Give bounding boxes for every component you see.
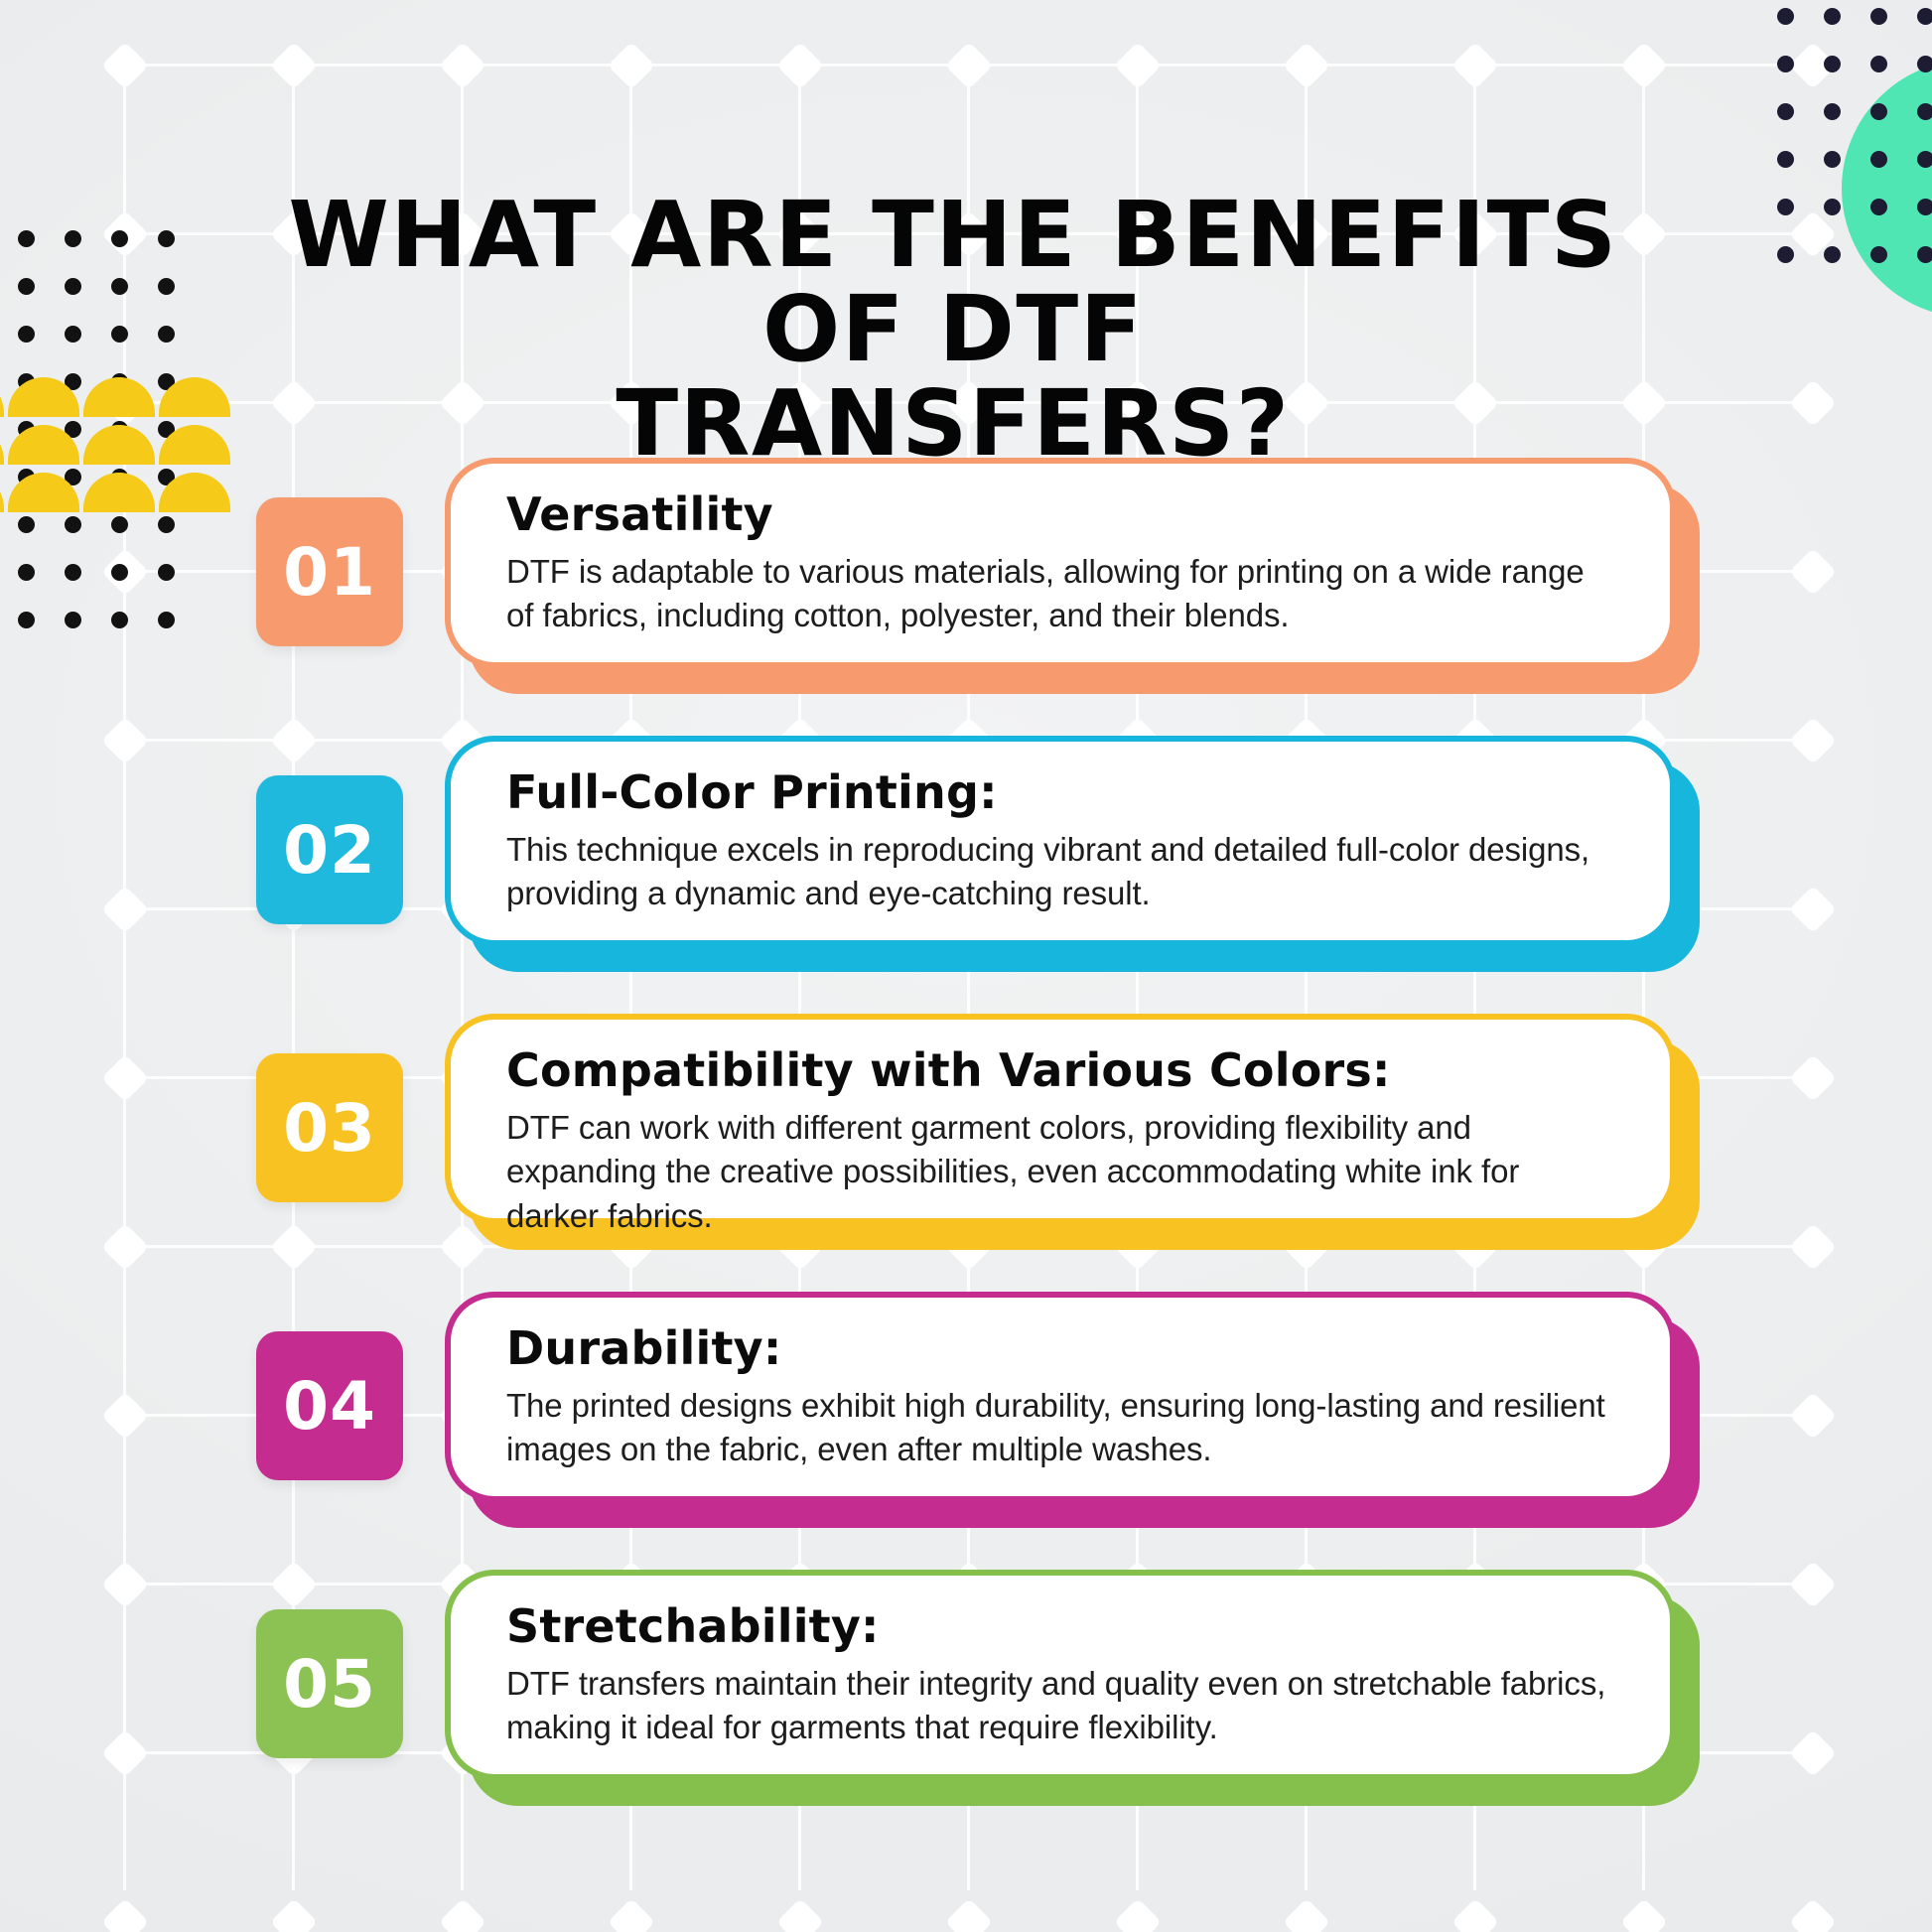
benefit-card[interactable]: VersatilityDTF is adaptable to various m… xyxy=(445,458,1676,668)
grid-joint-diamond xyxy=(944,41,992,88)
grid-joint-diamond xyxy=(1282,1897,1329,1932)
benefit-card[interactable]: Full-Color Printing:This technique excel… xyxy=(445,736,1676,946)
benefit-body: The printed designs exhibit high durabil… xyxy=(506,1384,1616,1473)
decorative-dot xyxy=(65,230,81,247)
benefit-number: 01 xyxy=(283,534,376,611)
benefit-row: 03Compatibility with Various Colors:DTF … xyxy=(0,1008,1932,1252)
decorative-dot xyxy=(1824,151,1841,168)
decorative-dot xyxy=(111,230,128,247)
grid-joint-diamond xyxy=(269,41,317,88)
benefit-number: 03 xyxy=(283,1090,376,1167)
grid-joint-diamond xyxy=(100,378,148,426)
grid-joint-diamond xyxy=(607,41,654,88)
decorative-dot xyxy=(1824,103,1841,120)
benefit-body: DTF is adaptable to various materials, a… xyxy=(506,550,1616,639)
benefit-number-badge: 02 xyxy=(256,775,403,924)
decorative-dot xyxy=(18,326,35,343)
decorative-dot xyxy=(158,421,175,438)
benefit-row: 05Stretchability:DTF transfers maintain … xyxy=(0,1564,1932,1808)
grid-joint-diamond xyxy=(944,1897,992,1932)
decorative-dot xyxy=(1870,56,1887,72)
benefit-row: 01VersatilityDTF is adaptable to various… xyxy=(0,452,1932,696)
infographic-canvas: WHAT ARE THE BENEFITS OF DTF TRANSFERS? … xyxy=(0,0,1932,1932)
grid-joint-diamond xyxy=(269,1897,317,1932)
grid-joint-diamond xyxy=(775,1897,823,1932)
grid-joint-diamond xyxy=(1788,41,1836,88)
grid-joint-diamond xyxy=(1788,378,1836,426)
decorative-dot xyxy=(65,421,81,438)
half-circle-shape xyxy=(83,377,155,417)
benefit-card-wrapper: Durability:The printed designs exhibit h… xyxy=(445,1292,1676,1502)
grid-joint-diamond xyxy=(1450,41,1498,88)
benefit-card[interactable]: Durability:The printed designs exhibit h… xyxy=(445,1292,1676,1502)
decorative-dot xyxy=(18,230,35,247)
benefit-heading: Compatibility with Various Colors: xyxy=(506,1045,1616,1096)
grid-joint-diamond xyxy=(438,41,485,88)
grid-joint-diamond xyxy=(1788,1897,1836,1932)
decorative-dot xyxy=(158,278,175,295)
decorative-dot xyxy=(158,326,175,343)
benefit-body: This technique excels in reproducing vib… xyxy=(506,828,1616,917)
decorative-dot xyxy=(1824,8,1841,25)
benefit-heading: Full-Color Printing: xyxy=(506,767,1616,818)
decorative-dot xyxy=(111,421,128,438)
benefit-number-badge: 01 xyxy=(256,497,403,646)
grid-joint-diamond xyxy=(100,209,148,257)
decorative-dot xyxy=(1777,151,1794,168)
decorative-dot xyxy=(65,373,81,390)
benefit-card[interactable]: Stretchability:DTF transfers maintain th… xyxy=(445,1570,1676,1780)
benefit-heading: Stretchability: xyxy=(506,1601,1616,1652)
benefit-row: 04Durability:The printed designs exhibit… xyxy=(0,1286,1932,1530)
decorative-dot xyxy=(1777,8,1794,25)
grid-joint-diamond xyxy=(1282,41,1329,88)
decorative-dot xyxy=(111,278,128,295)
decorative-dot xyxy=(18,278,35,295)
decorative-dot xyxy=(65,278,81,295)
decorative-dot xyxy=(1777,199,1794,215)
benefit-body: DTF transfers maintain their integrity a… xyxy=(506,1662,1616,1751)
benefit-number: 04 xyxy=(283,1368,376,1445)
decorative-dot xyxy=(1824,246,1841,263)
decorative-dot xyxy=(1917,8,1932,25)
decorative-dot xyxy=(1777,246,1794,263)
benefit-card-wrapper: Full-Color Printing:This technique excel… xyxy=(445,736,1676,946)
grid-joint-diamond xyxy=(607,1897,654,1932)
half-circle-shape xyxy=(0,377,4,417)
benefit-card-wrapper: VersatilityDTF is adaptable to various m… xyxy=(445,458,1676,668)
benefit-number-badge: 05 xyxy=(256,1609,403,1758)
half-circle-shape xyxy=(8,377,79,417)
grid-joint-diamond xyxy=(1619,41,1667,88)
grid-joint-diamond xyxy=(1113,41,1161,88)
benefit-number-badge: 03 xyxy=(256,1053,403,1202)
grid-joint-diamond xyxy=(100,1897,148,1932)
benefit-number: 05 xyxy=(283,1646,376,1723)
decorative-dot xyxy=(65,326,81,343)
grid-joint-diamond xyxy=(1619,1897,1667,1932)
half-circle-shape xyxy=(159,377,230,417)
decorative-dot xyxy=(18,421,35,438)
grid-joint-diamond xyxy=(1450,1897,1498,1932)
decorative-dot xyxy=(1824,199,1841,215)
benefit-number-badge: 04 xyxy=(256,1331,403,1480)
benefit-body: DTF can work with different garment colo… xyxy=(506,1106,1616,1240)
grid-joint-diamond xyxy=(438,1897,485,1932)
decorative-dot xyxy=(1777,56,1794,72)
grid-joint-diamond xyxy=(1788,209,1836,257)
decorative-dot xyxy=(158,373,175,390)
benefits-list: 01VersatilityDTF is adaptable to various… xyxy=(0,452,1932,1842)
benefit-heading: Versatility xyxy=(506,489,1616,540)
grid-joint-diamond xyxy=(1113,1897,1161,1932)
benefit-number: 02 xyxy=(283,812,376,889)
grid-joint-diamond xyxy=(100,41,148,88)
decorative-dot xyxy=(111,373,128,390)
decorative-dot xyxy=(158,230,175,247)
benefit-card[interactable]: Compatibility with Various Colors:DTF ca… xyxy=(445,1014,1676,1224)
benefit-card-wrapper: Compatibility with Various Colors:DTF ca… xyxy=(445,1014,1676,1224)
benefit-heading: Durability: xyxy=(506,1323,1616,1374)
decorative-dot xyxy=(1777,103,1794,120)
teal-circle-decoration xyxy=(1842,60,1932,318)
benefit-row: 02Full-Color Printing:This technique exc… xyxy=(0,730,1932,974)
grid-joint-diamond xyxy=(775,41,823,88)
page-title: WHAT ARE THE BENEFITS OF DTF TRANSFERS? xyxy=(238,189,1668,471)
decorative-dot xyxy=(1870,8,1887,25)
benefit-card-wrapper: Stretchability:DTF transfers maintain th… xyxy=(445,1570,1676,1780)
decorative-dot xyxy=(1824,56,1841,72)
decorative-dot xyxy=(111,326,128,343)
page-title-line-1: WHAT ARE THE BENEFITS OF DTF xyxy=(238,189,1668,377)
decorative-dot xyxy=(18,373,35,390)
